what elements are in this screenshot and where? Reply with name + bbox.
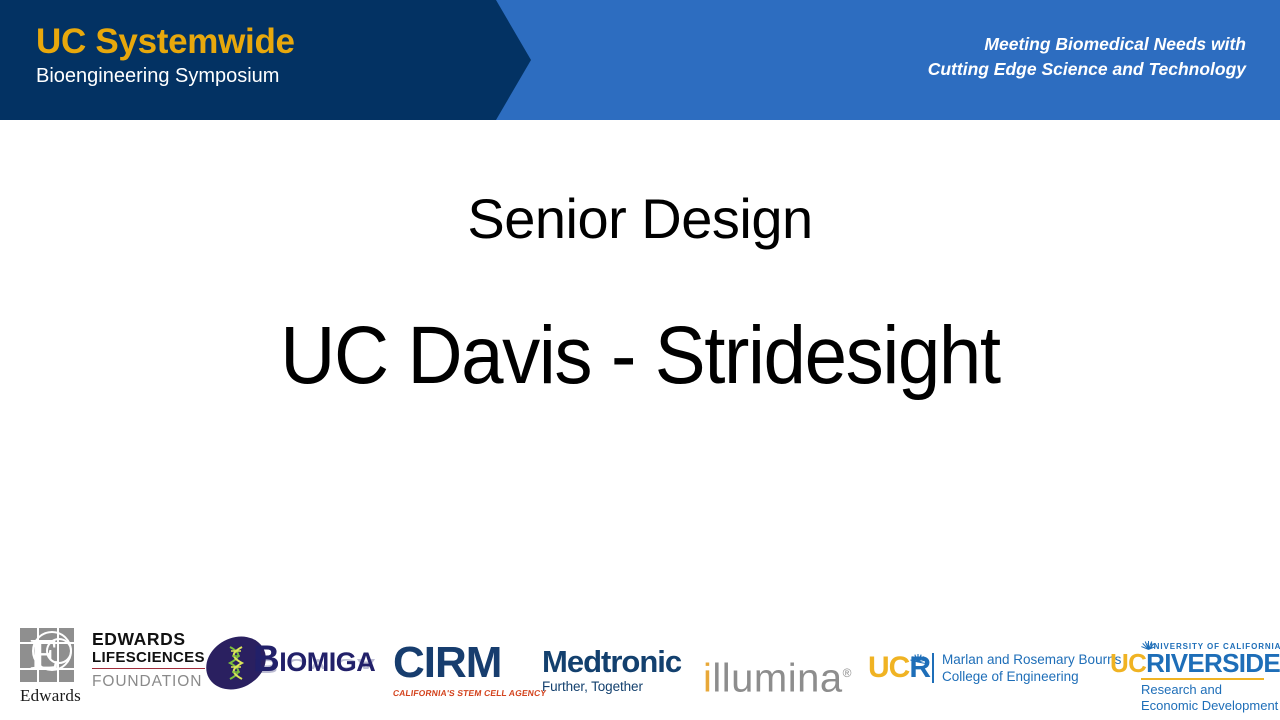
ucr-college-line-1: Marlan and Rosemary Bourns <box>942 652 1121 669</box>
edwards-text-line-3: FOUNDATION <box>92 672 205 691</box>
title-spacer <box>0 250 1280 312</box>
edwards-text-line-1: EDWARDS <box>92 630 205 649</box>
medtronic-wordmark: Medtronic <box>542 646 688 678</box>
ucriverside-unit-line-1: Research and <box>1141 682 1278 698</box>
ucr-uc-letters: UC <box>868 651 909 684</box>
ucriverside-unit-text: Research and Economic Development <box>1141 682 1278 714</box>
sponsor-logo-ucr-college-of-engineering: UCR Marlan and Rosemary Bourns College o… <box>868 652 1096 696</box>
presentation-slide: UC Systemwide Bioengineering Symposium M… <box>0 0 1280 720</box>
sponsor-logo-cirm: CIRM CALIFORNIA'S STEM CELL AGENCY <box>393 642 525 696</box>
header-brand-block: UC Systemwide Bioengineering Symposium <box>0 0 500 120</box>
edwards-text-line-2: LIFESCIENCES <box>92 649 205 669</box>
edwards-letter-e: E <box>30 635 59 675</box>
sponsor-logo-medtronic: Medtronic Further, Together <box>542 646 688 694</box>
edwards-monogram-icon: E <box>20 628 74 682</box>
sponsor-logo-biomiga: BIOMIGA BIOMIGA <box>205 636 380 702</box>
ucriverside-unit-line-2: Economic Development <box>1141 698 1278 714</box>
ucr-college-line-2: College of Engineering <box>942 669 1121 686</box>
sponsor-logo-uc-riverside-red: UNIVERSITY OF CALIFORNIA UCRIVERSIDE Res… <box>1110 642 1266 708</box>
cirm-tagline: CALIFORNIA'S STEM CELL AGENCY <box>392 687 526 699</box>
slide-title-secondary: UC Davis - Stridesight <box>45 312 1235 401</box>
ucriverside-riverside-letters: RIVERSIDE <box>1146 648 1280 678</box>
header-tagline-block: Meeting Biomedical Needs with Cutting Ed… <box>928 32 1246 83</box>
slide-title-primary: Senior Design <box>0 188 1280 250</box>
illumina-wordmark: illumina® <box>703 652 855 699</box>
registered-trademark-icon: ® <box>843 666 852 680</box>
illumina-letter-i: i <box>703 656 712 700</box>
ucr-divider <box>932 653 934 683</box>
cirm-wordmark: CIRM <box>393 642 525 684</box>
sponsor-logo-edwards-lifesciences-foundation: E Edwards EDWARDS LIFESCIENCES FOUNDATIO… <box>20 628 202 710</box>
dna-helix-icon <box>227 646 245 680</box>
edwards-foundation-text: EDWARDS LIFESCIENCES FOUNDATION <box>92 630 205 691</box>
tagline-line-1: Meeting Biomedical Needs with <box>928 32 1246 57</box>
illumina-rest: llumina <box>712 656 842 700</box>
tagline-line-2: Cutting Edge Science and Technology <box>928 57 1246 82</box>
ucriverside-sunburst-icon <box>1141 640 1156 655</box>
brand-subtitle: Bioengineering Symposium <box>36 63 500 90</box>
ucr-college-text: Marlan and Rosemary Bourns College of En… <box>942 652 1121 685</box>
ucr-sunburst-icon <box>910 654 926 670</box>
ucriverside-mark: UCRIVERSIDE <box>1110 649 1280 677</box>
slide-title-block: Senior Design UC Davis - Stridesight <box>0 188 1280 400</box>
sponsor-logo-strip: E Edwards EDWARDS LIFESCIENCES FOUNDATIO… <box>0 612 1280 720</box>
brand-title: UC Systemwide <box>36 24 500 61</box>
slide-header-banner: UC Systemwide Bioengineering Symposium M… <box>0 0 1280 120</box>
edwards-wordmark: Edwards <box>20 686 81 706</box>
sponsor-logo-illumina: illumina® <box>703 652 855 692</box>
ucriverside-gold-rule <box>1141 678 1264 680</box>
slide-body: Senior Design UC Davis - Stridesight <box>0 120 1280 610</box>
medtronic-tagline: Further, Together <box>542 679 688 695</box>
biomiga-wordmark-reflection: BIOMIGA <box>253 653 375 676</box>
